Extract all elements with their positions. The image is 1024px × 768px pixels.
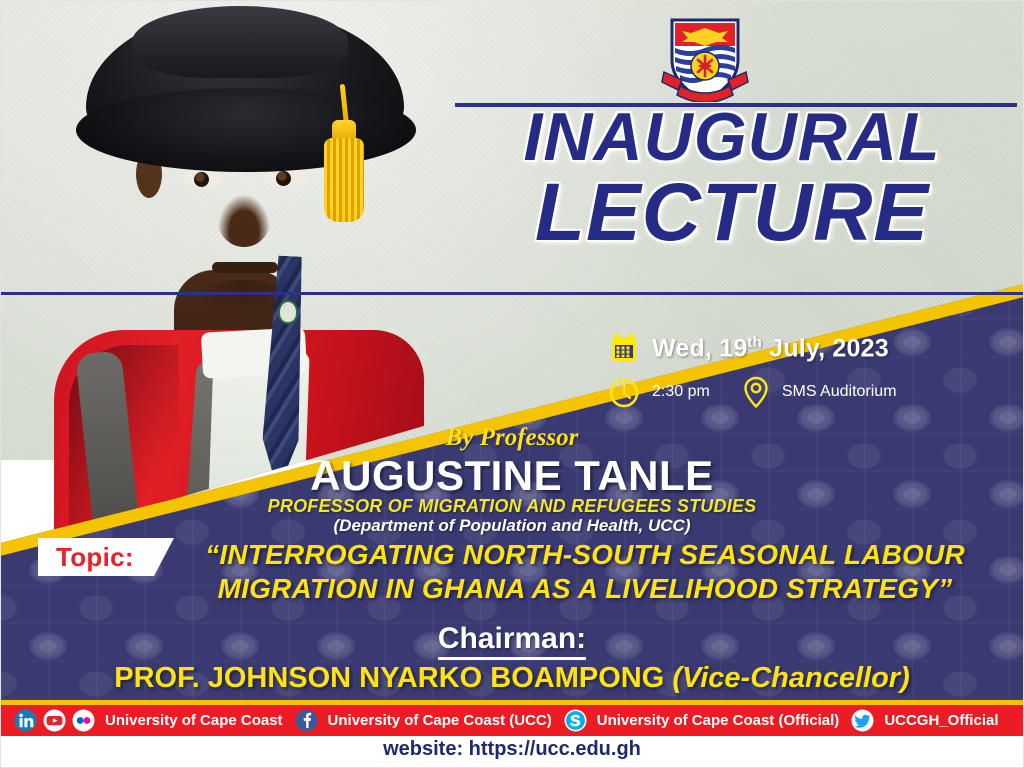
social-label-ucc: University of Cape Coast: [105, 712, 283, 729]
event-time: 2:30 pm: [652, 383, 710, 401]
speaker-name: AUGUSTINE TANLE: [0, 452, 1024, 500]
chairman-name-row: PROF. JOHNSON NYARKO BOAMPONG (Vice-Chan…: [0, 662, 1024, 695]
social-label-skype: University of Cape Coast (Official): [597, 712, 840, 729]
calendar-icon: [608, 332, 640, 366]
title-line-2: LECTURE: [440, 174, 1024, 251]
facebook-icon[interactable]: [295, 709, 318, 732]
topic-label-text: Topic:: [38, 542, 134, 573]
chairman-label: Chairman:: [0, 622, 1024, 656]
inaugural-lecture-poster: INAUGURAL LECTURE: [0, 0, 1024, 768]
linkedin-icon[interactable]: [14, 709, 37, 732]
page-title: INAUGURAL LECTURE: [440, 106, 1024, 251]
social-group-twitter[interactable]: UCCGH_Official: [851, 709, 998, 732]
event-date: Wed, 19th July, 2023: [652, 334, 889, 363]
skype-icon[interactable]: [564, 709, 587, 732]
chairman-label-text: Chairman:: [438, 622, 586, 660]
social-media-bar: University of Cape Coast University of C…: [0, 705, 1024, 736]
location-pin-icon: [740, 375, 772, 409]
speaker-department: (Department of Population and Health, UC…: [0, 516, 1024, 536]
speaker-title: PROFESSOR OF MIGRATION AND REFUGEES STUD…: [0, 496, 1024, 517]
event-venue: SMS Auditorium: [782, 383, 897, 401]
topic-text: “INTERROGATING NORTH-SOUTH SEASONAL LABO…: [160, 538, 1010, 606]
title-line-1: INAUGURAL: [440, 106, 1024, 170]
twitter-icon[interactable]: [851, 709, 874, 732]
flickr-icon[interactable]: [72, 709, 95, 732]
clock-icon: [608, 375, 640, 409]
social-group-linkedin-youtube-flickr[interactable]: University of Cape Coast: [14, 709, 283, 732]
website-url[interactable]: website: https://ucc.edu.gh: [0, 738, 1024, 761]
social-group-facebook[interactable]: University of Cape Coast (UCC): [295, 709, 552, 732]
youtube-icon[interactable]: [43, 709, 66, 732]
event-details: Wed, 19th July, 2023 2:30 pm SMS Auditor…: [608, 328, 1024, 414]
chairman-role: (Vice-Chancellor): [672, 662, 909, 694]
social-label-facebook: University of Cape Coast (UCC): [328, 712, 552, 729]
social-group-skype[interactable]: University of Cape Coast (Official): [564, 709, 840, 732]
ucc-crest-logo: [658, 16, 752, 102]
event-date-row: Wed, 19th July, 2023: [608, 328, 1024, 370]
social-label-twitter: UCCGH_Official: [884, 712, 998, 729]
topic-label-badge: Topic:: [38, 538, 174, 576]
event-time-venue-row: 2:30 pm SMS Auditorium: [608, 370, 1024, 414]
title-bottom-rule: [0, 292, 1024, 295]
speaker-prefix: By Professor: [0, 424, 1024, 452]
chairman-name: PROF. JOHNSON NYARKO BOAMPONG: [114, 662, 664, 694]
